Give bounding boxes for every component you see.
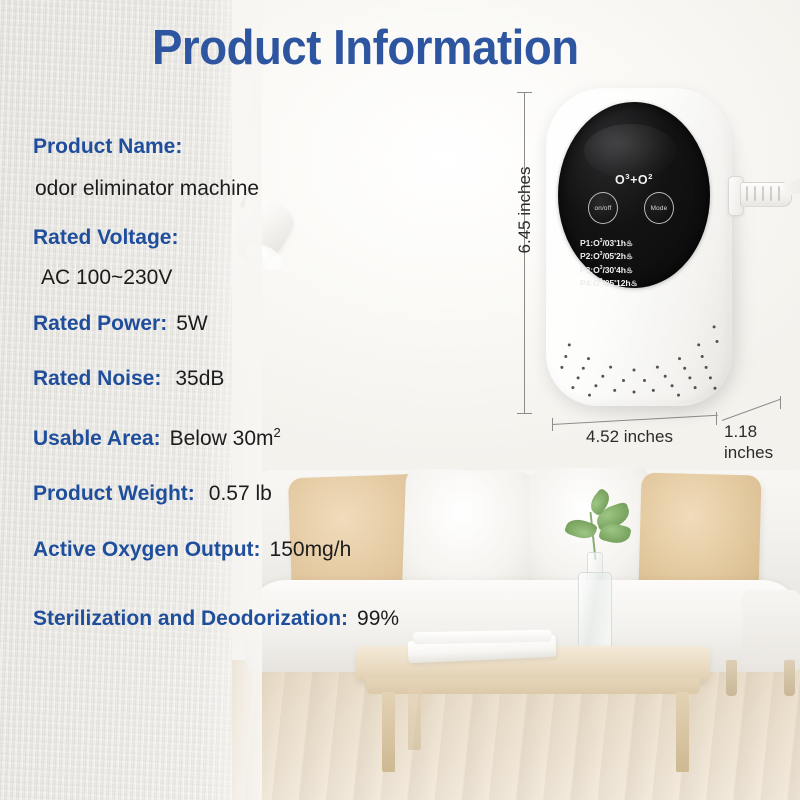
water-drop-icon: ♨ [626,252,633,261]
plug-rib [762,186,764,201]
spec-row-usable-area: Usable Area: Below 30m2 [33,425,281,451]
spec-row-product-weight: Product Weight: 0.57 lb [33,482,272,506]
mode-button[interactable]: Mode [644,192,674,224]
spec-value-product-weight: 0.57 lb [209,482,272,506]
sofa-leg [726,660,737,696]
spec-row-sterilization-deodorization: Sterilization and Deodorization: 99% [33,607,399,631]
spec-label-rated-noise: Rated Noise: [33,367,161,391]
page-title: Product Information [152,20,579,76]
mode-button-label: Mode [651,205,668,212]
product-device: O3+O2 on/off Mode P1:O3/03'1h♨ P2:O3/05'… [546,88,732,406]
dimension-label-depth: 1.18 inches [724,421,794,463]
spec-value-usable-area: Below 30m2 [170,425,281,451]
dimension-label-depth-line2: inches [724,442,794,463]
spec-label-usable-area: Usable Area: [33,427,161,451]
spec-label-active-oxygen-output: Active Oxygen Output: [33,538,261,562]
power-button-label: on/off [594,205,611,212]
power-button[interactable]: on/off [588,192,618,224]
program-line-p3: P3:O3/30'4h♨ [580,263,638,276]
spec-row-rated-power: Rated Power: 5W [33,312,208,336]
textured-wall-panel [0,0,232,800]
dimension-label-height: 6.45 inches [515,155,535,265]
spec-label-sterilization-deodorization: Sterilization and Deodorization: [33,607,348,631]
spec-value-rated-voltage: AC 100~230V [41,266,172,290]
spec-row-product-name-value: odor eliminator machine [35,177,259,201]
spec-row-rated-voltage-value: AC 100~230V [41,266,172,290]
program-list: P1:O3/03'1h♨ P2:O3/05'2h♨ P3:O3/30'4h♨ P… [580,236,638,290]
spec-row-rated-voltage: Rated Voltage: [33,226,178,250]
dimension-cap-width-left [552,418,553,431]
spec-value-rated-noise: 35dB [175,367,224,391]
glass-vase [578,572,612,656]
water-drop-icon: ♨ [626,266,633,275]
water-drop-icon: ♨ [626,239,633,248]
spec-row-product-name: Product Name: [33,135,182,159]
spec-value-sterilization-deodorization: 99% [357,607,399,631]
usable-area-superscript: 2 [274,425,281,440]
dimension-cap-depth-right [780,396,781,409]
product-information-page: Product Information Product Name: odor e… [0,0,800,800]
dimension-label-width: 4.52 inches [586,427,673,447]
coffee-table-leg [382,692,395,772]
coffee-table-leg [676,692,689,772]
plug-rib [754,186,756,201]
plug-rib [778,186,780,201]
dimension-cap-height-top [517,92,532,93]
spec-label-rated-voltage: Rated Voltage: [33,226,178,250]
water-drop-icon: ♨ [631,279,638,288]
program-line-p1: P1:O3/03'1h♨ [580,236,638,249]
dimension-cap-height-bottom [517,413,532,414]
display-glare [584,124,676,178]
throw-pillow-white-left [402,468,534,596]
plug-rib [770,186,772,201]
throw-pillow-tan-right [638,472,761,595]
dimension-cap-width-right [716,412,717,425]
program-line-p4: P4:O3/25'12h♨ [580,276,638,289]
spec-value-rated-power: 5W [176,312,208,336]
spec-label-rated-power: Rated Power: [33,312,167,336]
ventilation-grille [546,296,732,400]
sofa-leg [784,660,795,696]
dimension-label-depth-line1: 1.18 [724,421,794,442]
spec-value-product-name: odor eliminator machine [35,177,259,201]
spec-label-product-weight: Product Weight: [33,482,195,506]
ozone-oxygen-label: O3+O2 [546,172,722,187]
coffee-table-leg [408,688,421,750]
spec-row-rated-noise: Rated Noise: 35dB [33,367,224,391]
spec-row-active-oxygen-output: Active Oxygen Output: 150mg/h [33,538,351,562]
program-line-p2: P2:O3/05'2h♨ [580,249,638,262]
plug-rib [746,186,748,201]
spec-label-product-name: Product Name: [33,135,182,159]
spec-value-active-oxygen-output: 150mg/h [270,538,352,562]
